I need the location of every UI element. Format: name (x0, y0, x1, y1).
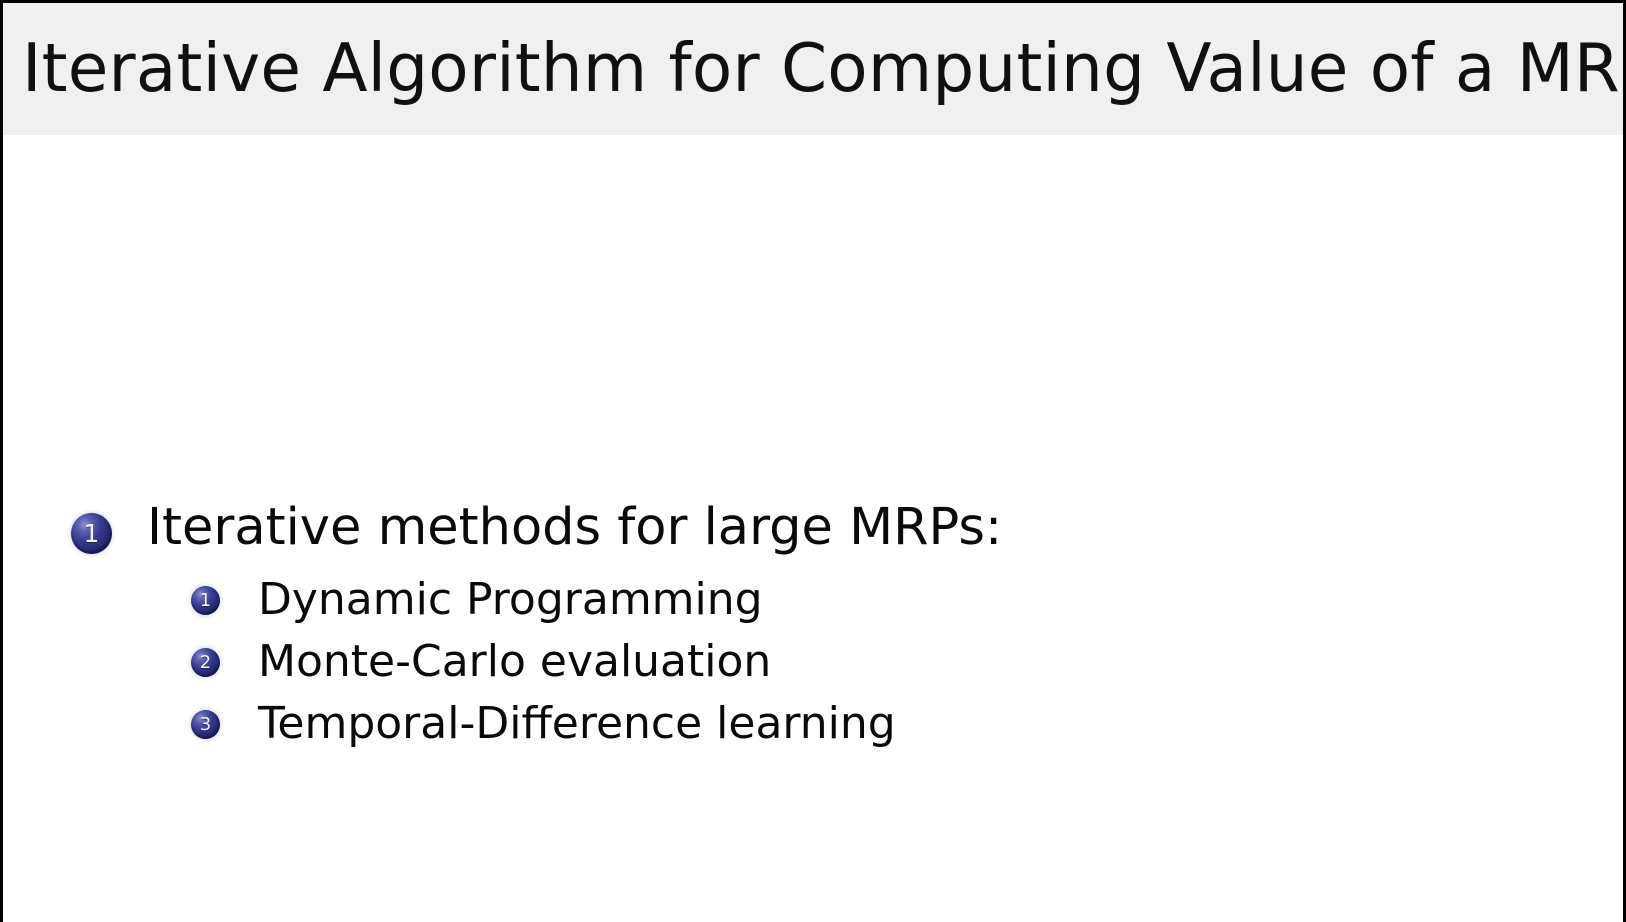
numbered-ball-bullet-icon: 1 (191, 586, 220, 615)
numbered-ball-bullet-icon: 3 (191, 710, 220, 739)
outline-level1-label: Iterative methods for large MRPs: (147, 502, 1002, 553)
slide-title-bar: Iterative Algorithm for Computing Value … (3, 3, 1623, 135)
list-item: 3 Temporal-Difference learning (191, 700, 896, 762)
numbered-ball-bullet-icon: 2 (191, 648, 220, 677)
outline-level2-label-dynamic-programming: Dynamic Programming (258, 578, 763, 622)
page-title: Iterative Algorithm for Computing Value … (22, 35, 1626, 102)
outline-level2-label-temporal-difference-learning: Temporal-Difference learning (258, 702, 896, 746)
numbered-ball-bullet-icon: 1 (71, 513, 112, 554)
outline-sublist: 1 Dynamic Programming 2 Monte-Carlo eval… (191, 576, 896, 762)
outline-level1-row: 1 Iterative methods for large MRPs: (71, 502, 1002, 554)
list-item: 1 Dynamic Programming (191, 576, 896, 638)
list-item: 2 Monte-Carlo evaluation (191, 638, 896, 700)
presentation-slide: Iterative Algorithm for Computing Value … (0, 0, 1626, 922)
slide-body: 1 Iterative methods for large MRPs: 1 Dy… (3, 135, 1623, 922)
outline-level2-label-monte-carlo-evaluation: Monte-Carlo evaluation (258, 640, 771, 684)
